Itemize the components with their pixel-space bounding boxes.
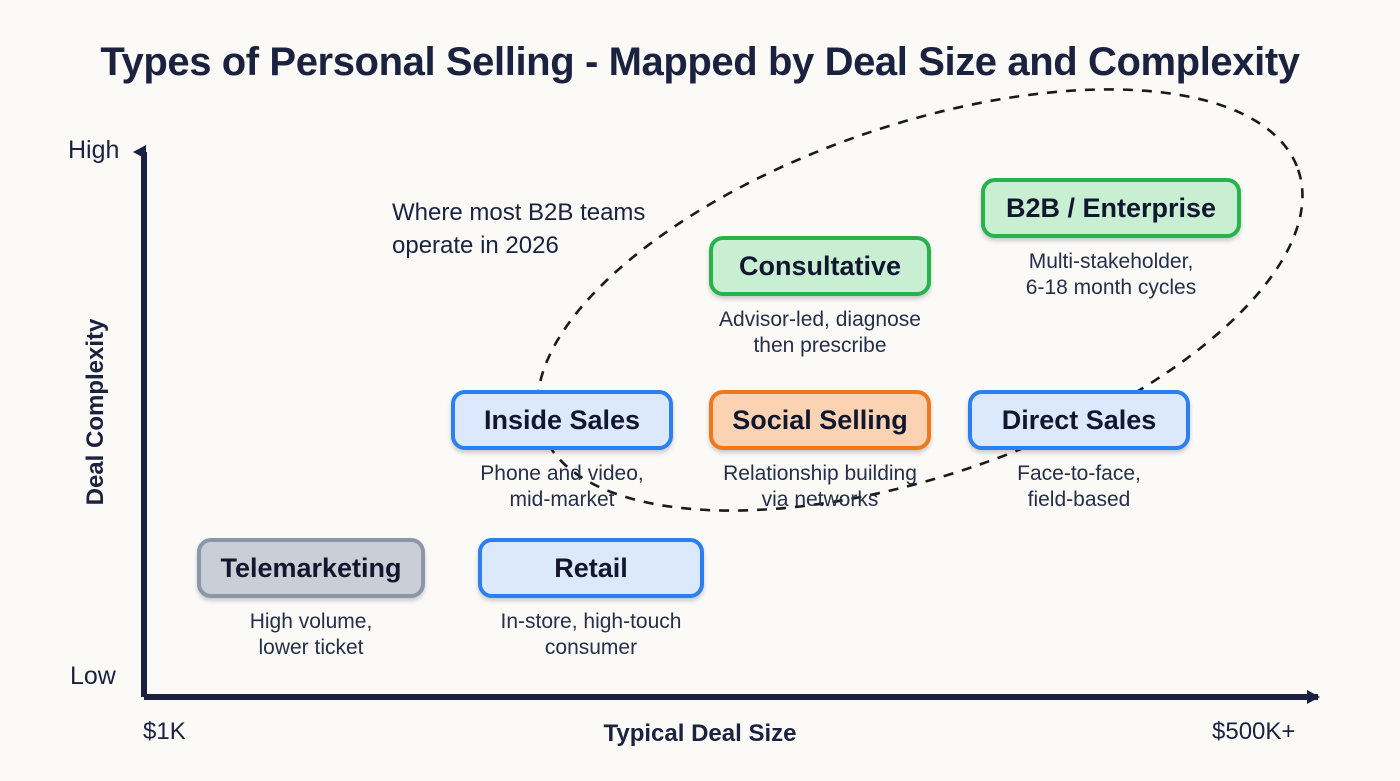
node-caption-inside-sales: Phone and video, mid-market [451,461,673,513]
axis-label-high: High [68,136,119,165]
node-label-telemarketing[interactable]: Telemarketing [197,538,425,598]
node-label-retail[interactable]: Retail [478,538,704,598]
node-caption-social-selling: Relationship building via networks [709,461,931,513]
node-label-social-selling[interactable]: Social Selling [709,390,931,450]
node-caption-direct-sales: Face-to-face, field-based [968,461,1190,513]
axis-label-low: Low [70,662,116,691]
node-consultative[interactable]: ConsultativeAdvisor-led, diagnose then p… [709,236,931,359]
node-label-inside-sales[interactable]: Inside Sales [451,390,673,450]
node-caption-consultative: Advisor-led, diagnose then prescribe [709,307,931,359]
y-axis-title: Deal Complexity [82,302,110,522]
node-label-consultative[interactable]: Consultative [709,236,931,296]
node-label-b2b-enterprise[interactable]: B2B / Enterprise [981,178,1241,238]
node-inside-sales[interactable]: Inside SalesPhone and video, mid-market [451,390,673,513]
diagram-canvas: Types of Personal Selling - Mapped by De… [0,0,1400,781]
axes-and-annotation-layer [0,0,1400,781]
node-caption-telemarketing: High volume, lower ticket [197,609,425,661]
node-telemarketing[interactable]: TelemarketingHigh volume, lower ticket [197,538,425,661]
node-caption-retail: In-store, high-touch consumer [478,609,704,661]
annotation-text: Where most B2B teams operate in 2026 [392,196,645,262]
node-caption-b2b-enterprise: Multi-stakeholder, 6-18 month cycles [981,249,1241,301]
x-axis-title: Typical Deal Size [0,720,1400,748]
node-b2b-enterprise[interactable]: B2B / EnterpriseMulti-stakeholder, 6-18 … [981,178,1241,301]
node-label-direct-sales[interactable]: Direct Sales [968,390,1190,450]
node-direct-sales[interactable]: Direct SalesFace-to-face, field-based [968,390,1190,513]
node-retail[interactable]: RetailIn-store, high-touch consumer [478,538,704,661]
node-social-selling[interactable]: Social SellingRelationship building via … [709,390,931,513]
